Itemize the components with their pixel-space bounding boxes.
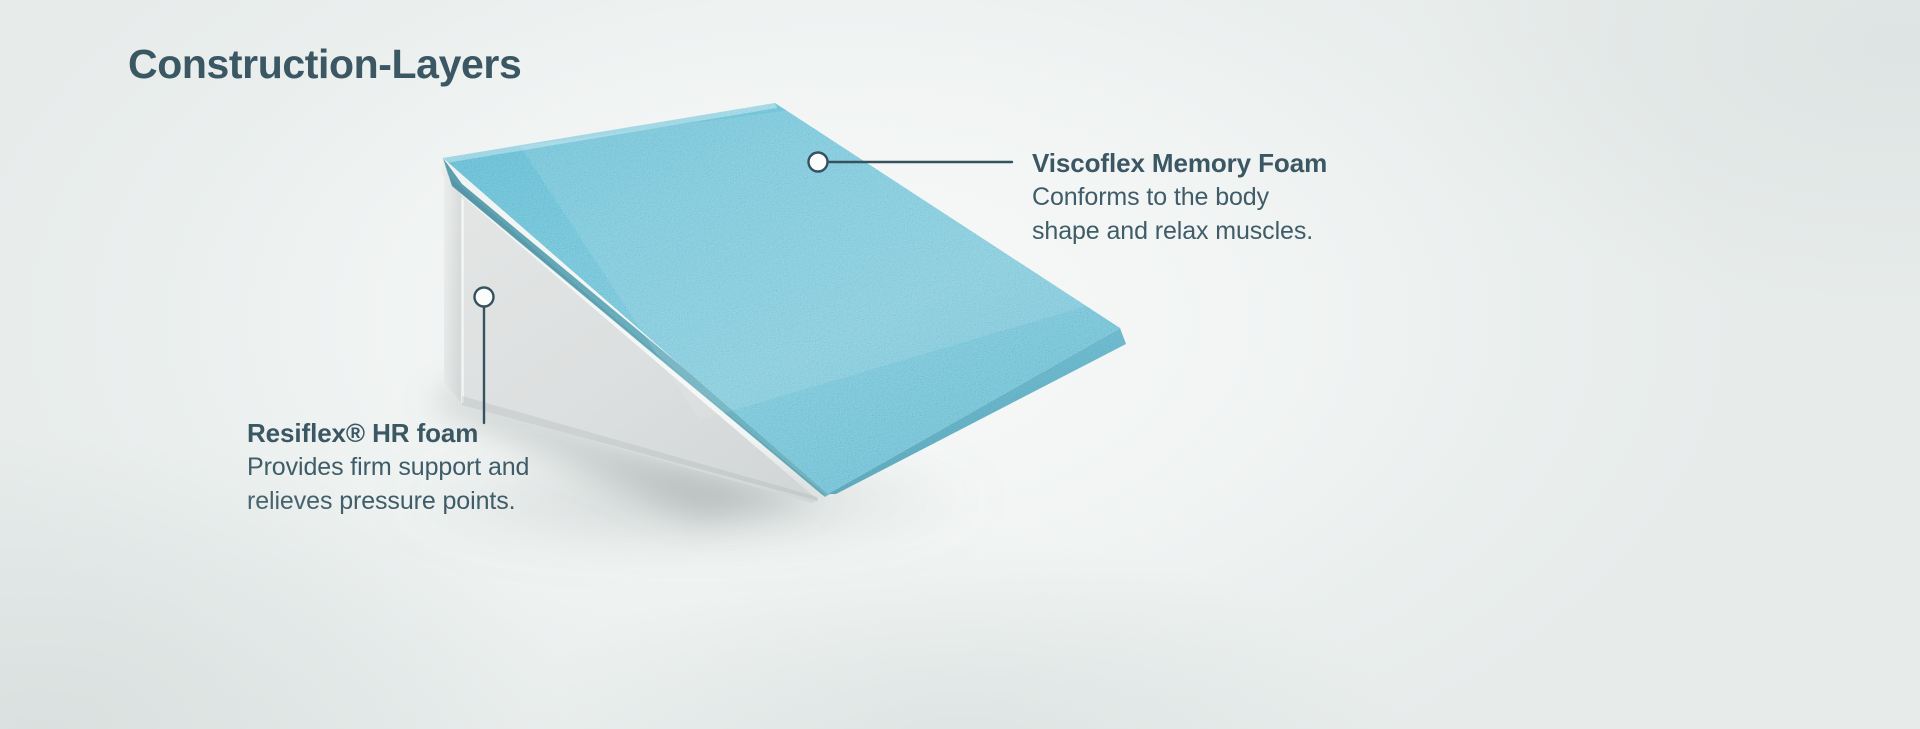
callout-description-memory-foam-line-1: Conforms to the body xyxy=(1032,180,1327,215)
callout-marker-hr-foam[interactable] xyxy=(475,288,494,307)
product-illustration xyxy=(0,0,1920,729)
illustration-canvas: Construction-Layers xyxy=(0,0,1920,729)
callout-title-memory-foam: Viscoflex Memory Foam xyxy=(1032,148,1327,180)
callout-title-hr-foam: Resiflex® HR foam xyxy=(247,418,529,450)
callout-description-hr-foam-line-1: Provides firm support and xyxy=(247,450,529,485)
callout-description-hr-foam-line-2: relieves pressure points. xyxy=(247,484,529,519)
callout-label-hr-foam: Resiflex® HR foam Provides firm support … xyxy=(247,418,529,519)
callout-label-memory-foam: Viscoflex Memory Foam Conforms to the bo… xyxy=(1032,148,1327,249)
callout-description-memory-foam-line-2: shape and relax muscles. xyxy=(1032,214,1327,249)
callout-marker-memory-foam[interactable] xyxy=(809,153,828,172)
